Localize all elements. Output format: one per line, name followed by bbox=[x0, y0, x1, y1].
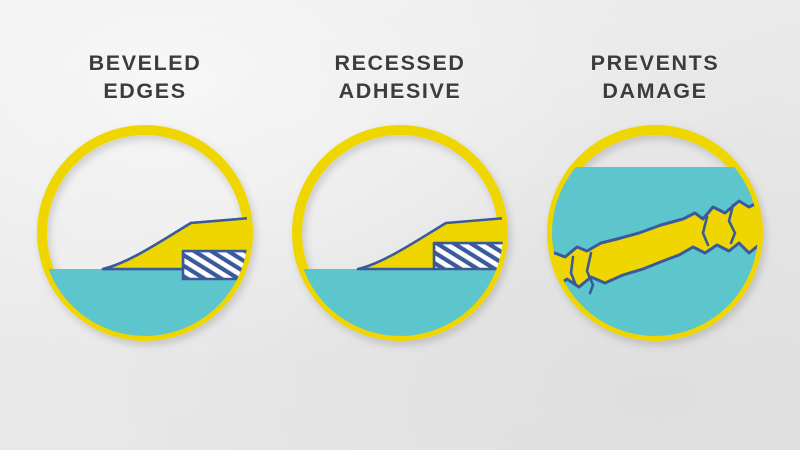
panel-beveled-edges: BEVELED EDGES bbox=[22, 0, 268, 345]
panel-title-recessed-adhesive: RECESSED ADHESIVE bbox=[334, 50, 465, 105]
panel-title-prevents-damage: PREVENTS DAMAGE bbox=[591, 50, 720, 105]
figure-beveled-edges bbox=[33, 121, 257, 345]
hatched-adhesive-block bbox=[183, 251, 263, 279]
panel-recessed-adhesive: RECESSED ADHESIVE bbox=[277, 0, 523, 345]
figure-prevents-damage bbox=[543, 121, 767, 345]
panel-prevents-damage: PREVENTS DAMAGE bbox=[532, 0, 778, 345]
beveled-edges-scene bbox=[33, 217, 263, 349]
panel-title-beveled-edges: BEVELED EDGES bbox=[89, 50, 202, 105]
recessed-adhesive-scene bbox=[288, 217, 518, 349]
slide-board: BEVELED EDGES bbox=[0, 0, 800, 450]
figure-recessed-adhesive bbox=[288, 121, 512, 345]
